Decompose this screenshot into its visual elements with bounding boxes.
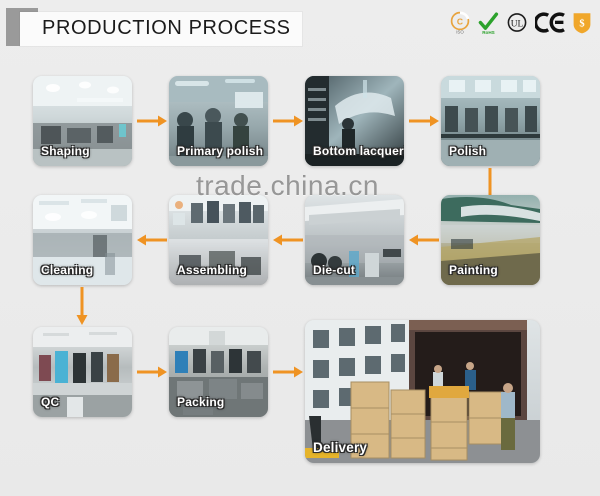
page-title: PRODUCTION PROCESS xyxy=(42,17,291,40)
step-label: Primary polish xyxy=(177,144,263,158)
rohs-check-icon: RoHS xyxy=(478,11,499,40)
svg-text:C: C xyxy=(457,16,463,26)
arrow-bottom-lacquering-to-polish xyxy=(409,114,439,128)
process-step-polish[interactable]: Polish xyxy=(441,76,540,166)
svg-text:ISO: ISO xyxy=(456,29,464,34)
ul-certification-icon: UL xyxy=(506,11,528,40)
arrow-cleaning-to-qc xyxy=(75,287,89,325)
arrow-painting-to-die-cut xyxy=(409,233,439,247)
ce-marking-icon xyxy=(535,11,565,40)
step-label: Bottom lacquering xyxy=(313,144,404,158)
process-step-shaping[interactable]: Shaping xyxy=(33,76,132,166)
arrow-assembling-to-cleaning xyxy=(137,233,167,247)
arrow-primary-polish-to-bottom-lacquering xyxy=(273,114,303,128)
header: PRODUCTION PROCESS C ISO RoHS xyxy=(0,0,600,55)
process-step-cleaning[interactable]: Cleaning xyxy=(33,195,132,285)
process-step-packing[interactable]: Packing xyxy=(169,327,268,417)
process-step-die-cut[interactable]: Die-cut xyxy=(305,195,404,285)
step-label: Packing xyxy=(177,395,224,409)
step-label: QC xyxy=(41,395,59,409)
process-step-bottom-lacquering[interactable]: Bottom lacquering xyxy=(305,76,404,166)
process-step-primary-polish[interactable]: Primary polish xyxy=(169,76,268,166)
svg-text:UL: UL xyxy=(511,19,524,29)
arrow-packing-to-delivery xyxy=(273,365,303,379)
production-process-infographic: PRODUCTION PROCESS C ISO RoHS xyxy=(0,0,600,496)
step-label: Shaping xyxy=(41,144,90,158)
process-step-painting[interactable]: Painting xyxy=(441,195,540,285)
process-step-delivery[interactable]: Delivery xyxy=(305,320,540,463)
arrow-shaping-to-primary-polish xyxy=(137,114,167,128)
gold-supplier-shield-icon: $ xyxy=(572,11,592,40)
arrow-qc-to-packing xyxy=(137,365,167,379)
process-flow-diagram: Shaping xyxy=(0,55,600,496)
arrow-die-cut-to-assembling xyxy=(273,233,303,247)
step-label: Delivery xyxy=(313,440,367,455)
step-label: Cleaning xyxy=(41,263,93,277)
step-label: Painting xyxy=(449,263,498,277)
certification-badges: C ISO RoHS UL xyxy=(449,11,592,39)
step-label: Polish xyxy=(449,144,486,158)
svg-text:$: $ xyxy=(579,18,584,29)
step-label: Assembling xyxy=(177,263,247,277)
process-step-assembling[interactable]: Assembling xyxy=(169,195,268,285)
step-label: Die-cut xyxy=(313,263,355,277)
svg-text:RoHS: RoHS xyxy=(482,30,495,35)
iso-certification-icon: C ISO xyxy=(449,11,471,40)
process-step-qc[interactable]: QC xyxy=(33,327,132,417)
